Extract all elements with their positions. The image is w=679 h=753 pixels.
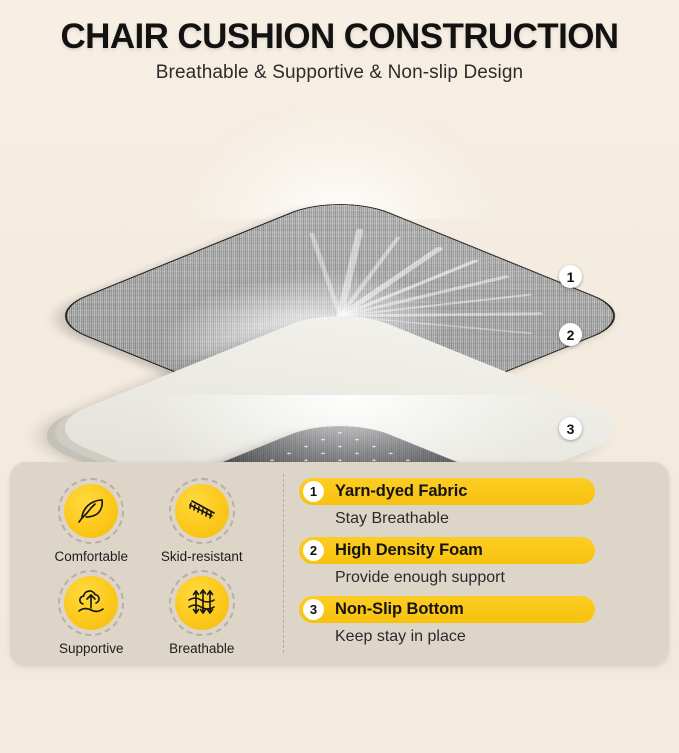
page-subtitle: Breathable & Supportive & Non-slip Desig… bbox=[0, 62, 679, 84]
feature-pill-2[interactable]: 2 High Density Foam bbox=[299, 537, 595, 564]
panel-divider bbox=[283, 474, 284, 653]
feature-panel: Comfortable Skid-resistant bbox=[10, 462, 669, 665]
feature-icon-skid-resistant[interactable]: Skid-resistant bbox=[147, 484, 258, 564]
spikes-icon bbox=[175, 484, 229, 538]
layer-badge-1: 1 bbox=[559, 265, 582, 288]
icon-label: Supportive bbox=[59, 641, 124, 656]
feature-subtext: Keep stay in place bbox=[335, 628, 669, 646]
feature-number-badge: 1 bbox=[303, 481, 324, 502]
feature-number-badge: 2 bbox=[303, 540, 324, 561]
list-item[interactable]: 1 Yarn-dyed Fabric Stay Breathable bbox=[299, 478, 669, 528]
list-item[interactable]: 3 Non-Slip Bottom Keep stay in place bbox=[299, 596, 669, 646]
cloud-arrow-up-icon bbox=[64, 576, 118, 630]
feature-pill-3[interactable]: 3 Non-Slip Bottom bbox=[299, 596, 595, 623]
feature-icon-supportive[interactable]: Supportive bbox=[36, 576, 147, 656]
feature-icon-comfortable[interactable]: Comfortable bbox=[36, 484, 147, 564]
exploded-cushion-diagram: 1 2 3 bbox=[0, 95, 679, 465]
feature-pill-1[interactable]: 1 Yarn-dyed Fabric bbox=[299, 478, 595, 505]
list-item[interactable]: 2 High Density Foam Provide enough suppo… bbox=[299, 537, 669, 587]
infographic-canvas: CHAIR CUSHION CONSTRUCTION Breathable & … bbox=[0, 0, 679, 679]
layer-badge-3: 3 bbox=[559, 417, 582, 440]
airflow-icon bbox=[175, 576, 229, 630]
icon-label: Skid-resistant bbox=[161, 549, 243, 564]
feature-label: High Density Foam bbox=[335, 541, 483, 560]
icon-feature-group: Comfortable Skid-resistant bbox=[10, 462, 283, 665]
feature-icon-breathable[interactable]: Breathable bbox=[147, 576, 258, 656]
page-title: CHAIR CUSHION CONSTRUCTION bbox=[0, 18, 679, 55]
icon-label: Comfortable bbox=[54, 549, 128, 564]
feature-subtext: Provide enough support bbox=[335, 569, 669, 587]
layer-badge-2: 2 bbox=[559, 323, 582, 346]
feature-label: Yarn-dyed Fabric bbox=[335, 482, 467, 501]
feature-subtext: Stay Breathable bbox=[335, 510, 669, 528]
feather-icon bbox=[64, 484, 118, 538]
icon-label: Breathable bbox=[169, 641, 234, 656]
feature-number-badge: 3 bbox=[303, 599, 324, 620]
header: CHAIR CUSHION CONSTRUCTION Breathable & … bbox=[0, 18, 679, 84]
feature-label: Non-Slip Bottom bbox=[335, 600, 464, 619]
feature-list: 1 Yarn-dyed Fabric Stay Breathable 2 Hig… bbox=[283, 462, 669, 665]
